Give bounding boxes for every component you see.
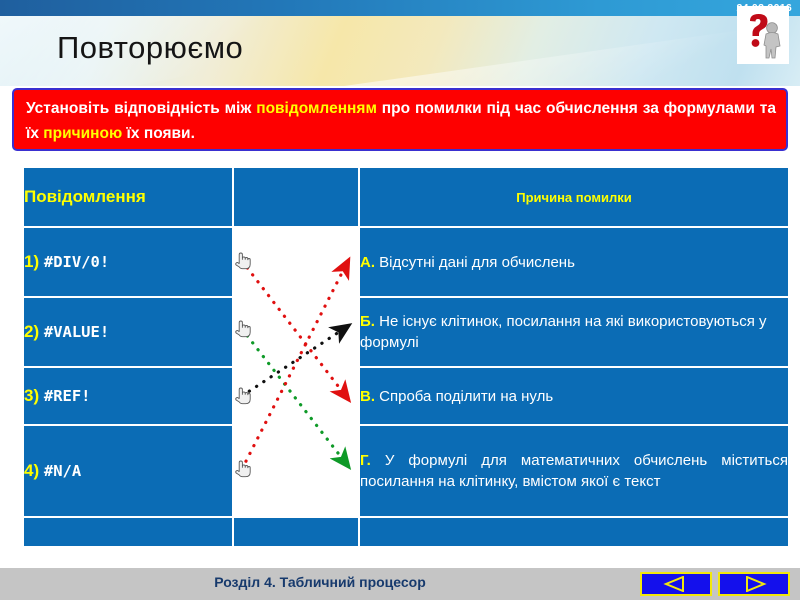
instruction-part-3: їх появи. xyxy=(122,125,195,142)
slide-header: Повторюємо xyxy=(0,16,800,86)
message-number-3: 3) xyxy=(24,386,39,405)
message-cell-3[interactable]: 3) #REF! xyxy=(24,368,232,424)
table-row[interactable]: 4) #N/A Г. У формулі для математичних об… xyxy=(24,426,788,516)
empty-cell-right xyxy=(360,518,788,546)
top-date-bar: 24.02.2016 xyxy=(0,0,800,16)
message-code-1: #DIV/0! xyxy=(44,253,109,271)
message-cell-1[interactable]: 1) #DIV/0! xyxy=(24,228,232,296)
hand-cursor-icon xyxy=(234,251,251,276)
page-title: Повторюємо xyxy=(57,30,243,66)
message-cell-4[interactable]: 4) #N/A xyxy=(24,426,232,516)
reason-cell-c[interactable]: В. Спроба поділити на нуль xyxy=(360,368,788,424)
footer-section-title: Розділ 4. Табличний процесор xyxy=(0,574,640,590)
message-code-2: #VALUE! xyxy=(44,323,109,341)
next-slide-button[interactable] xyxy=(718,572,790,596)
table-row[interactable]: 1) #DIV/0! А. Відсутні дані для обчислен… xyxy=(24,228,788,296)
matching-table: Повідомлення Причина помилки 1) #DIV/0! … xyxy=(22,166,790,548)
instruction-callout: Установіть відповідність між повідомленн… xyxy=(12,88,788,151)
reason-cell-b[interactable]: Б. Не існує клітинок, посилання на які в… xyxy=(360,298,788,366)
empty-cell-middle xyxy=(234,518,358,546)
reason-cell-a[interactable]: А. Відсутні дані для обчислень xyxy=(360,228,788,296)
arrow-gap-cell-3 xyxy=(234,368,358,424)
reason-text-d: У формулі для математичних обчислень міс… xyxy=(360,452,788,490)
hand-cursor-icon xyxy=(234,319,251,344)
arrow-gap-cell-4 xyxy=(234,426,358,516)
reason-text-c: Спроба поділити на нуль xyxy=(375,388,553,405)
instruction-part-1: Установіть відповідність між xyxy=(26,100,256,117)
instruction-highlight-message: повідомленням xyxy=(256,100,377,117)
reason-text-b: Не існує клітинок, посилання на які вико… xyxy=(360,313,766,351)
reason-letter-c: В. xyxy=(360,388,375,405)
table-header-row: Повідомлення Причина помилки xyxy=(24,168,788,226)
empty-cell-left xyxy=(24,518,232,546)
triangle-left-icon xyxy=(661,576,691,592)
hand-cursor-icon xyxy=(234,459,251,484)
prev-slide-button[interactable] xyxy=(640,572,712,596)
reason-letter-d: Г. xyxy=(360,452,371,469)
message-code-3: #REF! xyxy=(44,387,91,405)
triangle-right-icon xyxy=(739,576,769,592)
table-row[interactable]: 3) #REF! В. Спроба поділити на нуль xyxy=(24,368,788,424)
arrow-gap-cell-2 xyxy=(234,298,358,366)
message-number-1: 1) xyxy=(24,252,39,271)
column-header-middle xyxy=(234,168,358,226)
slide-footer: Розділ 4. Табличний процесор xyxy=(0,568,800,600)
table-row[interactable]: 2) #VALUE! Б. Не існує клітинок, посилан… xyxy=(24,298,788,366)
table-empty-row xyxy=(24,518,788,546)
instruction-highlight-reason: причиною xyxy=(43,125,122,142)
reason-cell-d[interactable]: Г. У формулі для математичних обчислень … xyxy=(360,426,788,516)
reason-letter-a: А. xyxy=(360,254,375,271)
message-code-4: #N/A xyxy=(44,462,81,480)
column-header-messages: Повідомлення xyxy=(24,168,232,226)
arrow-gap-cell-1 xyxy=(234,228,358,296)
hand-cursor-icon xyxy=(234,386,251,411)
reason-letter-b: Б. xyxy=(360,313,375,330)
column-header-reasons: Причина помилки xyxy=(360,168,788,226)
message-number-2: 2) xyxy=(24,322,39,341)
instruction-text: Установіть відповідність між повідомленн… xyxy=(26,96,776,146)
reason-text-a: Відсутні дані для обчислень xyxy=(375,254,575,271)
message-cell-2[interactable]: 2) #VALUE! xyxy=(24,298,232,366)
question-mark-person-icon xyxy=(737,6,789,64)
message-number-4: 4) xyxy=(24,461,39,480)
